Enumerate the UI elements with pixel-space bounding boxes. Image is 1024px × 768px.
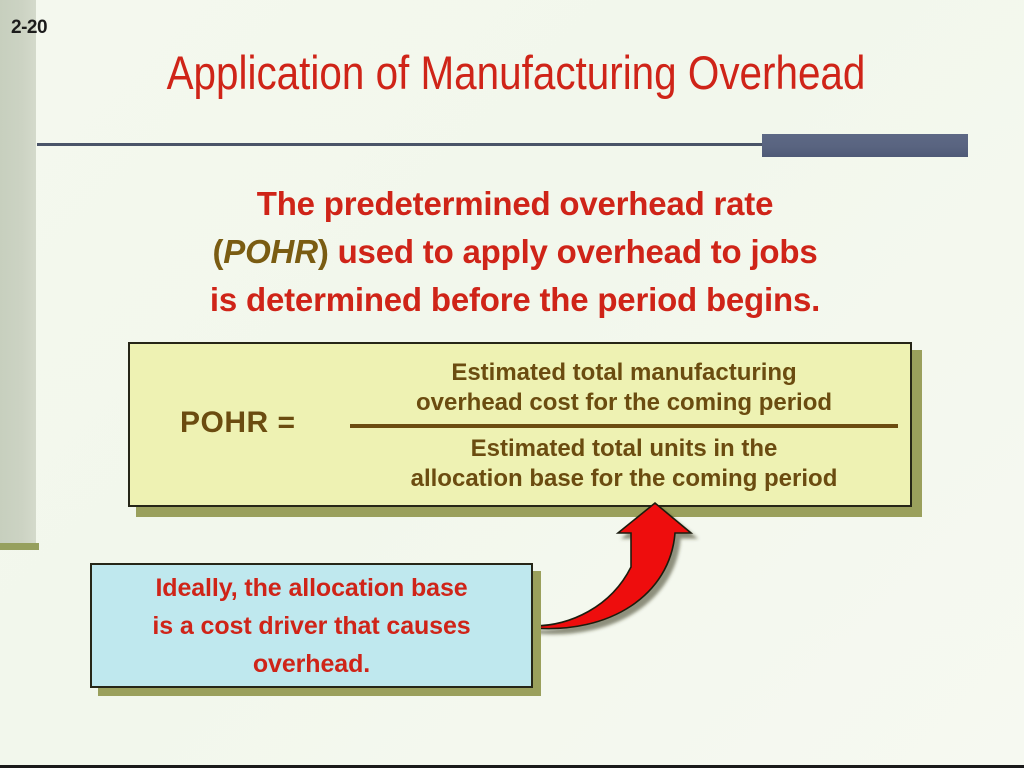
header-divider-rule <box>37 143 763 146</box>
formula-denominator-line-2: allocation base for the coming period <box>348 464 900 494</box>
formula-denominator: Estimated total units in the allocation … <box>348 433 900 494</box>
formula-box: POHR = Estimated total manufacturing ove… <box>128 342 912 507</box>
callout-line-2: is a cost driver that causes <box>152 607 470 645</box>
formula-numerator: Estimated total manufacturing overhead c… <box>348 358 900 421</box>
statement-text: The predetermined overhead rate (POHR) u… <box>60 180 970 324</box>
statement-open-paren: ( <box>212 233 223 270</box>
formula-fraction: Estimated total manufacturing overhead c… <box>348 358 900 494</box>
formula-denominator-line-1: Estimated total units in the <box>348 434 900 464</box>
left-strip-foot-bar <box>0 543 39 550</box>
formula-numerator-line-1: Estimated total manufacturing <box>348 358 900 388</box>
formula-fraction-bar <box>350 424 898 428</box>
formula-numerator-line-2: overhead cost for the coming period <box>348 388 900 418</box>
statement-line-1: The predetermined overhead rate <box>60 180 970 228</box>
callout-line-3: overhead. <box>152 645 470 683</box>
statement-line-3: is determined before the period begins. <box>60 276 970 324</box>
formula-left-side: POHR = <box>180 406 296 440</box>
header-accent-block <box>762 134 968 157</box>
slide-number: 2-20 <box>11 17 47 39</box>
callout-line-1: Ideally, the allocation base <box>152 569 470 607</box>
callout-box: Ideally, the allocation base is a cost d… <box>90 563 533 688</box>
slide-canvas: 2-20 Application of Manufacturing Overhe… <box>0 0 1024 768</box>
left-decorative-strip <box>0 0 36 543</box>
page-title: Application of Manufacturing Overhead <box>103 44 929 102</box>
statement-pohr-abbrev: POHR <box>223 233 318 270</box>
statement-line-2: (POHR) used to apply overhead to jobs <box>60 228 970 276</box>
callout-text: Ideally, the allocation base is a cost d… <box>152 569 470 683</box>
curved-up-arrow-icon <box>515 495 725 640</box>
statement-line-2-rest: used to apply overhead to jobs <box>329 233 818 270</box>
statement-close-paren: ) <box>318 233 329 270</box>
